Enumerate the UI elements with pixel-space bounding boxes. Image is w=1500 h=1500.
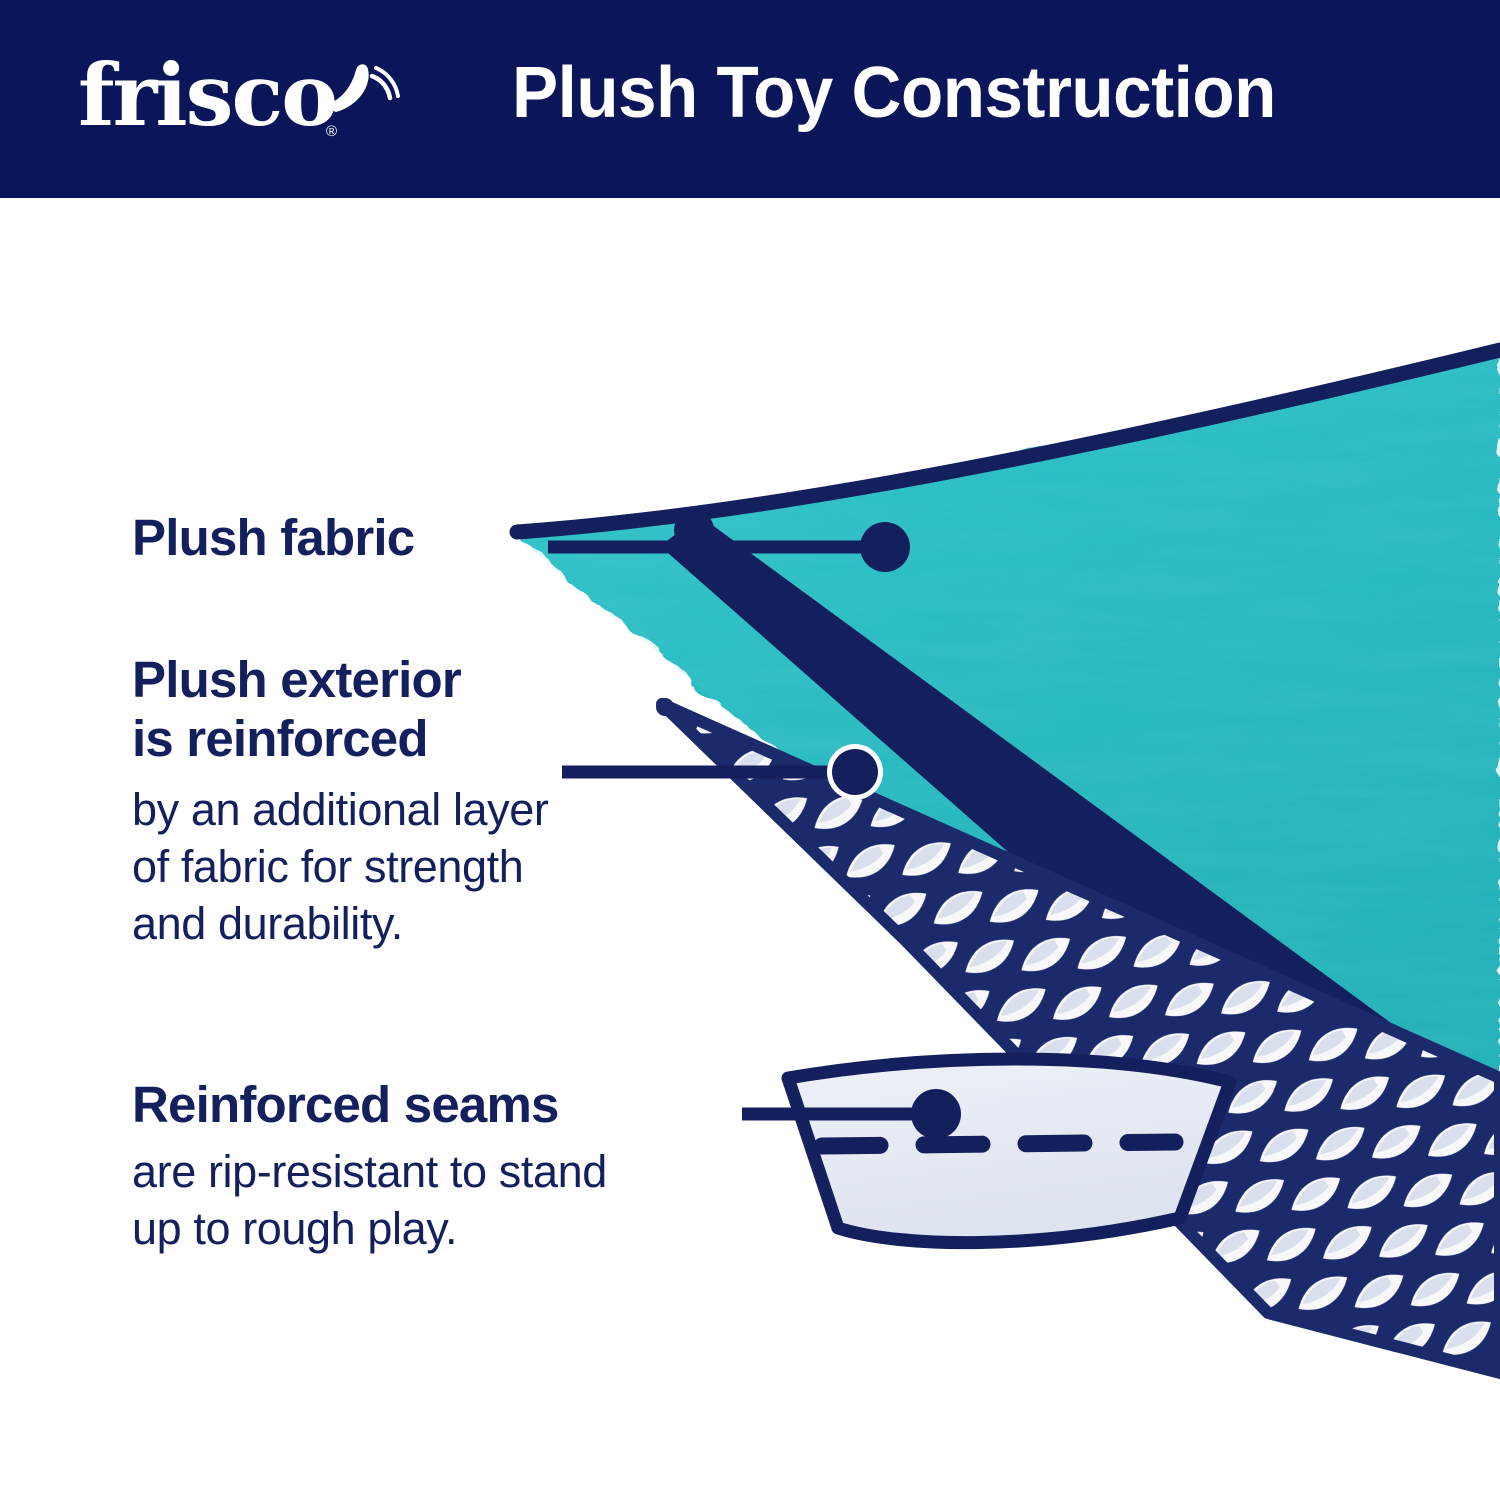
infographic-page: frisco ® Plush Toy Construction bbox=[0, 0, 1500, 1500]
seam-flap-layer bbox=[788, 1059, 1230, 1243]
callout-reinforced-seams-heading: Reinforced seams bbox=[132, 1075, 607, 1134]
callout-plush-exterior: Plush exterior is reinforced by an addit… bbox=[132, 650, 548, 952]
leader-dot-icon bbox=[911, 1089, 961, 1139]
registered-trademark-mark: ® bbox=[326, 124, 337, 139]
callout-reinforced-seams-body: are rip-resistant to stand up to rough p… bbox=[132, 1144, 607, 1257]
header-bar: frisco ® Plush Toy Construction bbox=[0, 0, 1500, 198]
callout-plush-exterior-body: by an additional layer of fabric for str… bbox=[132, 782, 548, 952]
callout-plush-fabric: Plush fabric bbox=[132, 508, 414, 567]
leader-dot-icon bbox=[860, 522, 910, 572]
callout-plush-exterior-heading: Plush exterior is reinforced bbox=[132, 650, 548, 768]
swoosh-icon bbox=[310, 58, 400, 128]
callout-reinforced-seams: Reinforced seams are rip-resistant to st… bbox=[132, 1075, 607, 1258]
page-title: Plush Toy Construction bbox=[512, 52, 1276, 134]
brand-wordmark: frisco bbox=[78, 54, 336, 139]
frisco-logo: frisco ® bbox=[78, 48, 398, 153]
leader-dot-icon bbox=[832, 749, 878, 795]
callout-plush-fabric-heading: Plush fabric bbox=[132, 508, 414, 567]
